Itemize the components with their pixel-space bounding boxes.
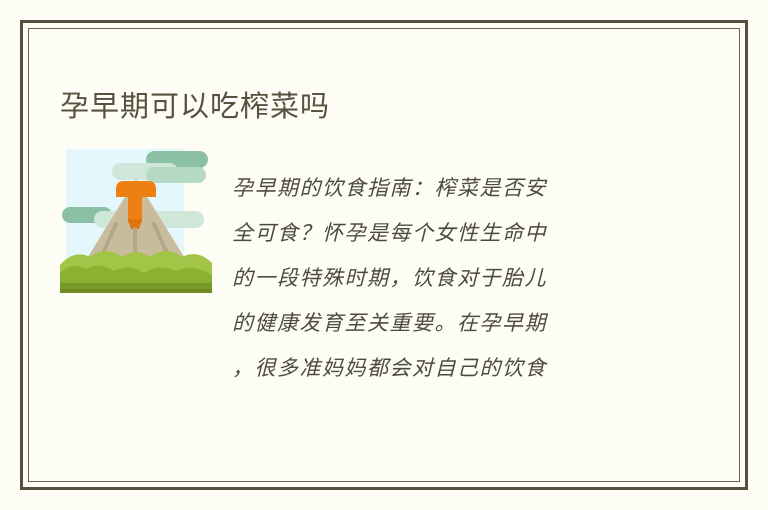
body-line: 的一段特殊时期，饮食对于胎儿 bbox=[232, 256, 652, 301]
article-body: 孕早期的饮食指南：榨菜是否安 全可食？怀孕是每个女性生命中 的一段特殊时期，饮食… bbox=[232, 166, 652, 391]
body-line: 孕早期的饮食指南：榨菜是否安 bbox=[232, 166, 652, 211]
page-title: 孕早期可以吃榨菜吗 bbox=[60, 83, 330, 125]
body-line: ，很多准妈妈都会对自己的饮食 bbox=[232, 346, 652, 391]
article-page: 孕早期可以吃榨菜吗 bbox=[0, 0, 768, 510]
article-content: 孕早期可以吃榨菜吗 bbox=[0, 0, 768, 510]
volcano-illustration bbox=[60, 145, 212, 297]
body-line: 的健康发育至关重要。在孕早期 bbox=[232, 301, 652, 346]
body-line: 全可食？怀孕是每个女性生命中 bbox=[232, 211, 652, 256]
